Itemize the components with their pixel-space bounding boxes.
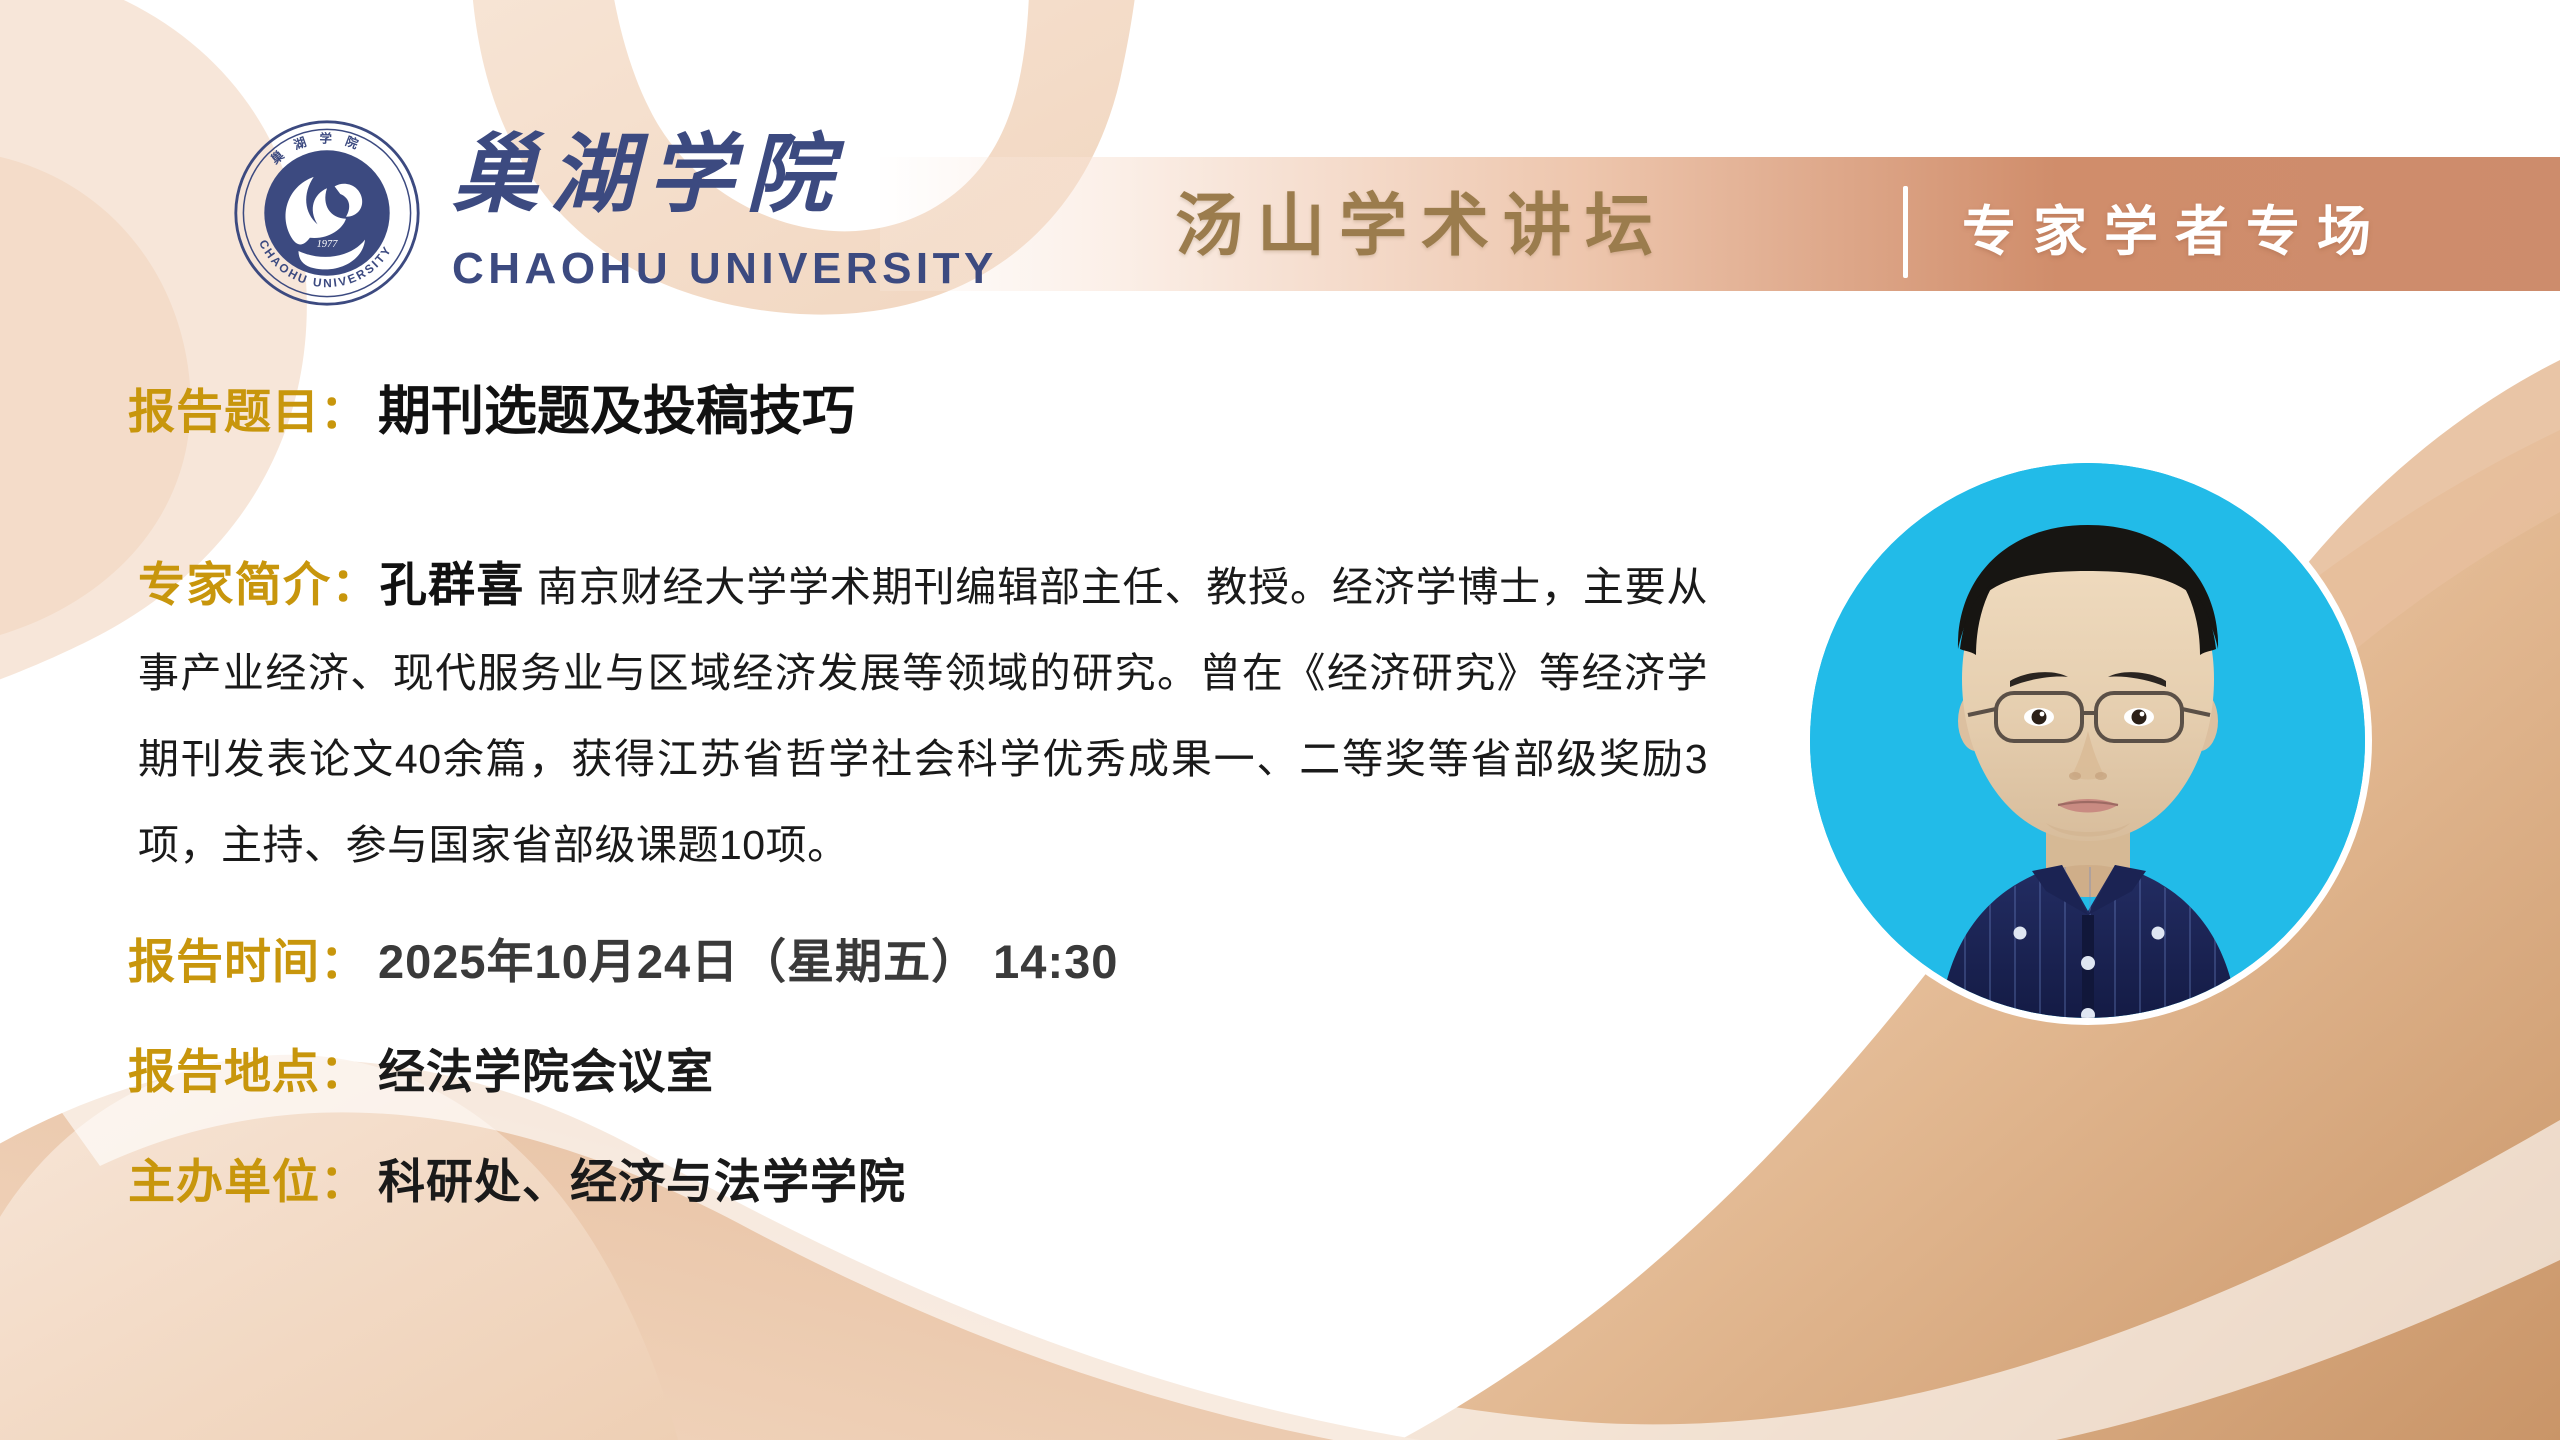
report-title-row: 报告题目： 期刊选题及投稿技巧	[128, 380, 855, 444]
speaker-portrait-photo	[1810, 463, 2365, 1018]
report-place-value: 经法学院会议室	[378, 1040, 714, 1104]
report-time-row: 报告时间： 2025年10月24日（星期五） 14:30	[128, 930, 1118, 994]
expert-name: 孔群喜	[380, 558, 525, 611]
host-unit-row: 主办单位： 科研处、经济与法学学院	[128, 1150, 906, 1214]
expert-bio-paragraph: 专家简介：孔群喜 南京财经大学学术期刊编辑部主任、教授。经济学博士，主要从事产业…	[138, 542, 1708, 888]
report-time-label: 报告时间：	[128, 930, 368, 994]
report-place-label: 报告地点：	[128, 1040, 368, 1104]
host-unit-label: 主办单位：	[128, 1150, 368, 1214]
expert-bio-row: 专家简介：孔群喜 南京财经大学学术期刊编辑部主任、教授。经济学博士，主要从事产业…	[128, 542, 1838, 888]
report-title-value: 期刊选题及投稿技巧	[378, 380, 855, 444]
report-time-value: 2025年10月24日（星期五） 14:30	[378, 930, 1118, 994]
poster-canvas: 汤山学术讲坛 专家学者专场 1977 巢 湖 学 院 CHAOHU UNIVER…	[0, 0, 2560, 1440]
host-unit-value: 科研处、经济与法学学院	[378, 1150, 906, 1214]
expert-bio-label: 专家简介：	[138, 558, 380, 611]
report-place-row: 报告地点： 经法学院会议室	[128, 1040, 714, 1104]
report-title-label: 报告题目：	[128, 380, 368, 444]
